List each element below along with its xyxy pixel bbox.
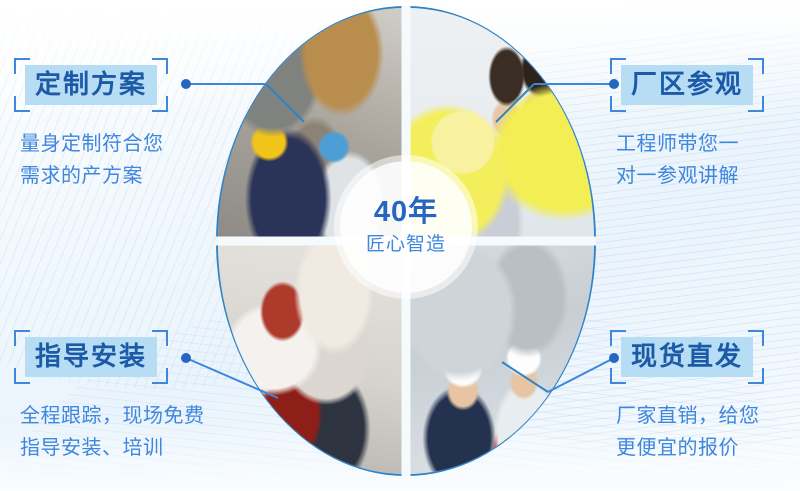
corner-bracket-icon bbox=[152, 96, 168, 112]
feature-description-bottom-right: 厂家直销，给您 更便宜的报价 bbox=[610, 400, 764, 465]
feature-desc-line: 对一参观讲解 bbox=[616, 160, 764, 192]
feature-title-bottom-left: 指导安装 bbox=[25, 337, 157, 377]
corner-bracket-icon bbox=[748, 96, 764, 112]
feature-block-factory-tour: 厂区参观 工程师带您一 对一参观讲解 bbox=[610, 58, 764, 192]
corner-bracket-icon bbox=[610, 58, 626, 74]
corner-bracket-icon bbox=[610, 368, 626, 384]
center-emblem: 40年 匠心智造 bbox=[340, 161, 472, 293]
connector-top-left bbox=[178, 70, 308, 140]
feature-title-top-left: 定制方案 bbox=[25, 65, 157, 105]
feature-desc-line: 量身定制符合您 bbox=[20, 128, 168, 160]
corner-bracket-icon bbox=[748, 330, 764, 346]
connector-dot-top-left bbox=[181, 79, 191, 89]
corner-bracket-icon bbox=[14, 368, 30, 384]
corner-bracket-icon bbox=[610, 96, 626, 112]
feature-block-installation-guidance: 指导安装 全程跟踪，现场免费 指导安装、培训 bbox=[14, 330, 205, 464]
feature-desc-line: 工程师带您一 bbox=[616, 128, 764, 160]
connector-bottom-right bbox=[492, 340, 622, 410]
corner-bracket-icon bbox=[748, 58, 764, 74]
feature-desc-line: 更便宜的报价 bbox=[616, 432, 764, 464]
feature-desc-line: 指导安装、培训 bbox=[20, 432, 205, 464]
feature-description-top-right: 工程师带您一 对一参观讲解 bbox=[610, 128, 764, 193]
feature-description-top-left: 量身定制符合您 需求的产方案 bbox=[14, 128, 168, 193]
corner-bracket-icon bbox=[152, 330, 168, 346]
feature-title-frame-top-right: 厂区参观 bbox=[610, 58, 764, 112]
corner-bracket-icon bbox=[610, 330, 626, 346]
feature-desc-line: 厂家直销，给您 bbox=[616, 400, 764, 432]
connector-top-right bbox=[492, 70, 622, 140]
feature-block-stock-direct-shipping: 现货直发 厂家直销，给您 更便宜的报价 bbox=[610, 330, 764, 464]
center-year-label: 40年 bbox=[374, 197, 438, 229]
feature-title-frame-bottom-left: 指导安装 bbox=[14, 330, 168, 384]
feature-title-frame-bottom-right: 现货直发 bbox=[610, 330, 764, 384]
feature-desc-line: 需求的产方案 bbox=[20, 160, 168, 192]
feature-title-top-right: 厂区参观 bbox=[621, 65, 753, 105]
feature-desc-line: 全程跟踪，现场免费 bbox=[20, 400, 205, 432]
promotional-poster: 40年 匠心智造 定制方案 量身定制符合您 需 bbox=[0, 0, 800, 491]
corner-bracket-icon bbox=[748, 368, 764, 384]
corner-bracket-icon bbox=[14, 58, 30, 74]
feature-description-bottom-left: 全程跟踪，现场免费 指导安装、培训 bbox=[14, 400, 205, 465]
feature-title-frame-top-left: 定制方案 bbox=[14, 58, 168, 112]
corner-bracket-icon bbox=[14, 330, 30, 346]
feature-block-custom-solution: 定制方案 量身定制符合您 需求的产方案 bbox=[14, 58, 168, 192]
corner-bracket-icon bbox=[152, 368, 168, 384]
feature-title-bottom-right: 现货直发 bbox=[621, 337, 753, 377]
corner-bracket-icon bbox=[14, 96, 30, 112]
center-slogan-label: 匠心智造 bbox=[366, 234, 446, 257]
corner-bracket-icon bbox=[152, 58, 168, 74]
